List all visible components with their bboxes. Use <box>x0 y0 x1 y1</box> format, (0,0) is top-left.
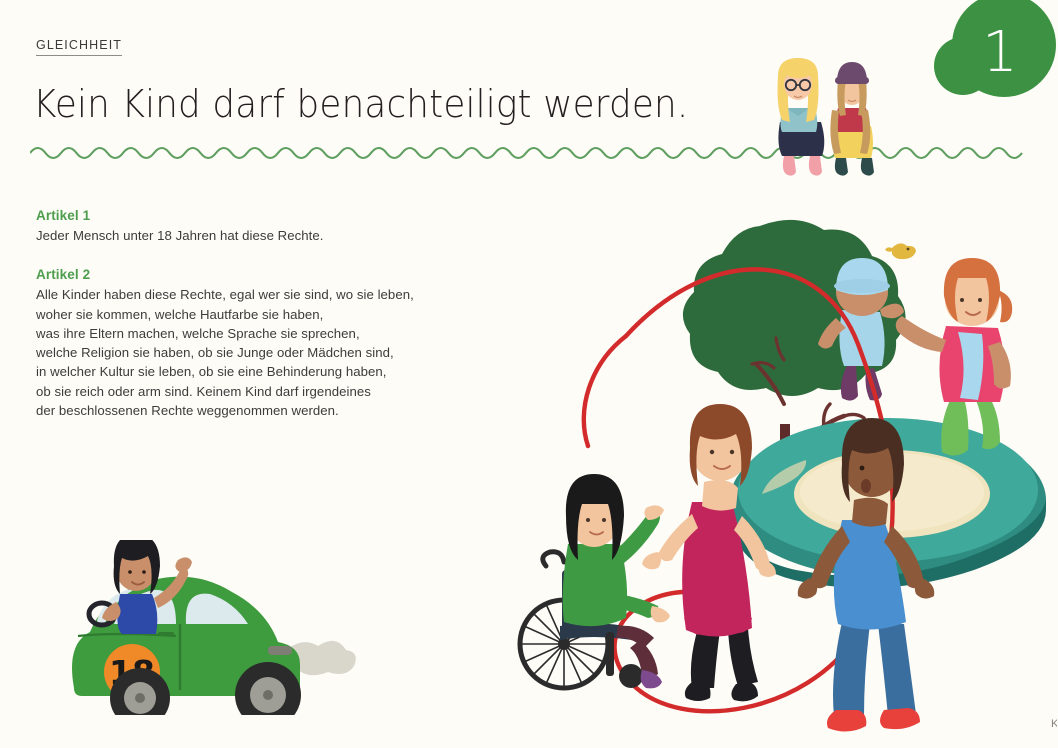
article-1-title: Artikel 1 <box>36 208 506 223</box>
article-1: Artikel 1 Jeder Mensch unter 18 Jahren h… <box>36 208 506 245</box>
article-2: Artikel 2 Alle Kinder haben diese Rechte… <box>36 267 506 420</box>
article-2-line-1: woher sie kommen, welche Hautfarbe sie h… <box>36 305 506 324</box>
green-car-illustration: 18 <box>70 540 380 715</box>
article-2-line-0: Alle Kinder haben diese Rechte, egal wer… <box>36 285 506 304</box>
playground-scene-illustration <box>506 214 1046 734</box>
article-2-title: Artikel 2 <box>36 267 506 282</box>
article-2-line-6: der beschlossenen Rechte weggenommen wer… <box>36 401 506 420</box>
page-title: Kein Kind darf benachteiligt werden. <box>33 82 688 126</box>
bird-illustration <box>885 243 916 259</box>
article-1-line-0: Jeder Mensch unter 18 Jahren hat diese R… <box>36 226 506 245</box>
child-with-beanie <box>830 62 874 176</box>
child-blonde-with-glasses <box>778 58 825 176</box>
article-text-block: Artikel 1 Jeder Mensch unter 18 Jahren h… <box>36 208 506 442</box>
page-number-badge: 1 <box>928 0 1056 104</box>
girl-jumping-rope <box>642 404 776 701</box>
page-edge-mark: K <box>1051 718 1057 730</box>
two-children-sitting-illustration <box>758 52 898 192</box>
article-2-line-5: ob sie reich oder arm sind. Keinem Kind … <box>36 382 506 401</box>
child-in-wheelchair <box>520 474 670 688</box>
poster-page: GLEICHHEIT Kein Kind darf benachteiligt … <box>0 0 1058 748</box>
page-kicker: GLEICHHEIT <box>36 38 122 56</box>
article-2-line-3: welche Religion sie haben, ob sie Junge … <box>36 343 506 362</box>
badge-blob-shape <box>928 0 1056 104</box>
article-2-line-2: was ihre Eltern machen, welche Sprache s… <box>36 324 506 343</box>
article-2-line-4: in welcher Kultur sie leben, ob sie eine… <box>36 362 506 381</box>
